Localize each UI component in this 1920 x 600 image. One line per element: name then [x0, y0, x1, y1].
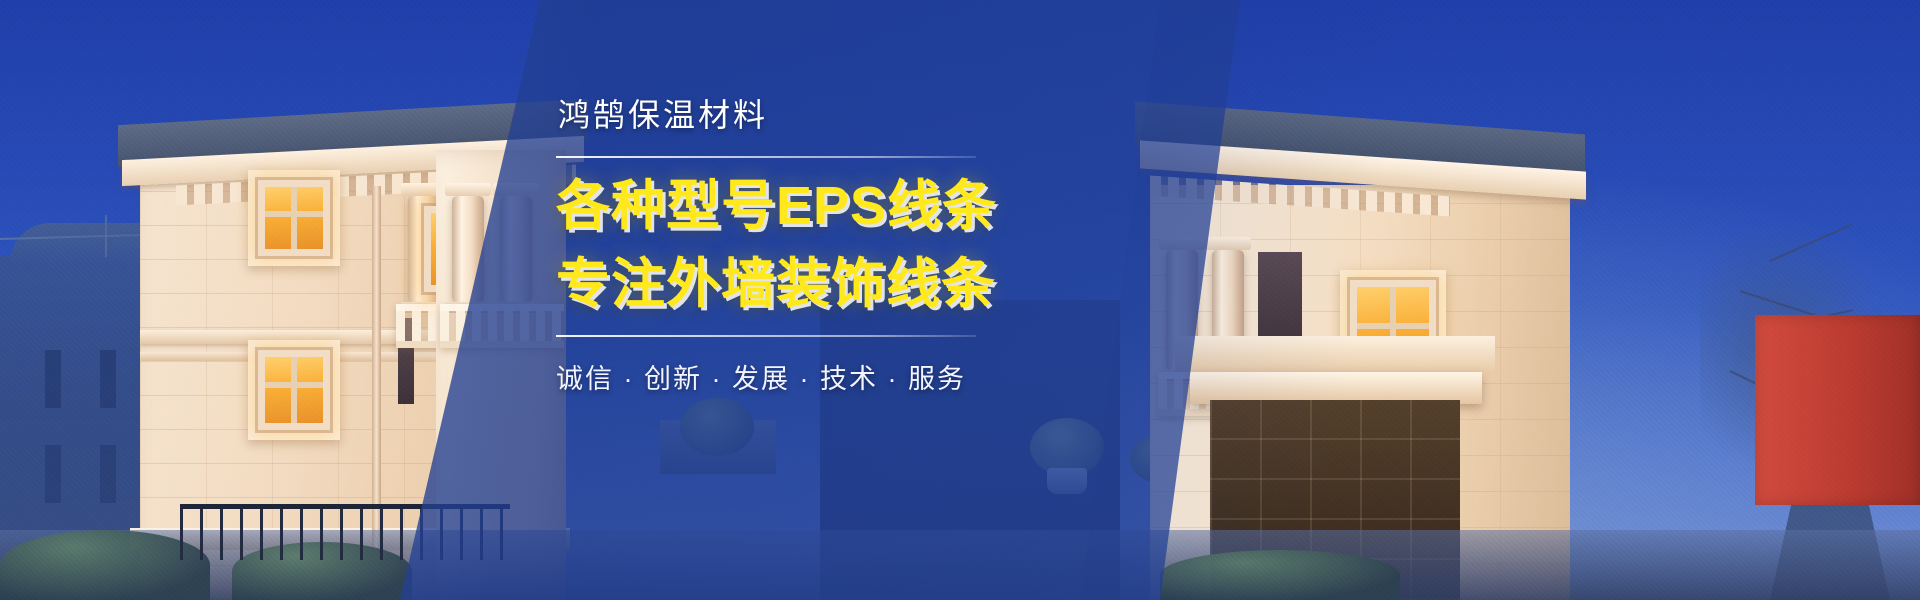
headline-line-1: 各种型号EPS线条	[556, 176, 1026, 236]
divider-top	[556, 156, 976, 158]
promo-banner: 鸿鹄保温材料 各种型号EPS线条 专注外墙装饰线条 诚信 · 创新 · 发展 ·…	[0, 0, 1920, 600]
tagline: 诚信 · 创新 · 发展 · 技术 · 服务	[556, 357, 1026, 396]
company-name: 鸿鹄保温材料	[556, 90, 1026, 136]
divider-bottom	[556, 335, 976, 337]
headline-line-2: 专注外墙装饰线条	[556, 254, 1026, 314]
banner-text-block: 鸿鹄保温材料 各种型号EPS线条 专注外墙装饰线条 诚信 · 创新 · 发展 ·…	[556, 90, 1026, 396]
